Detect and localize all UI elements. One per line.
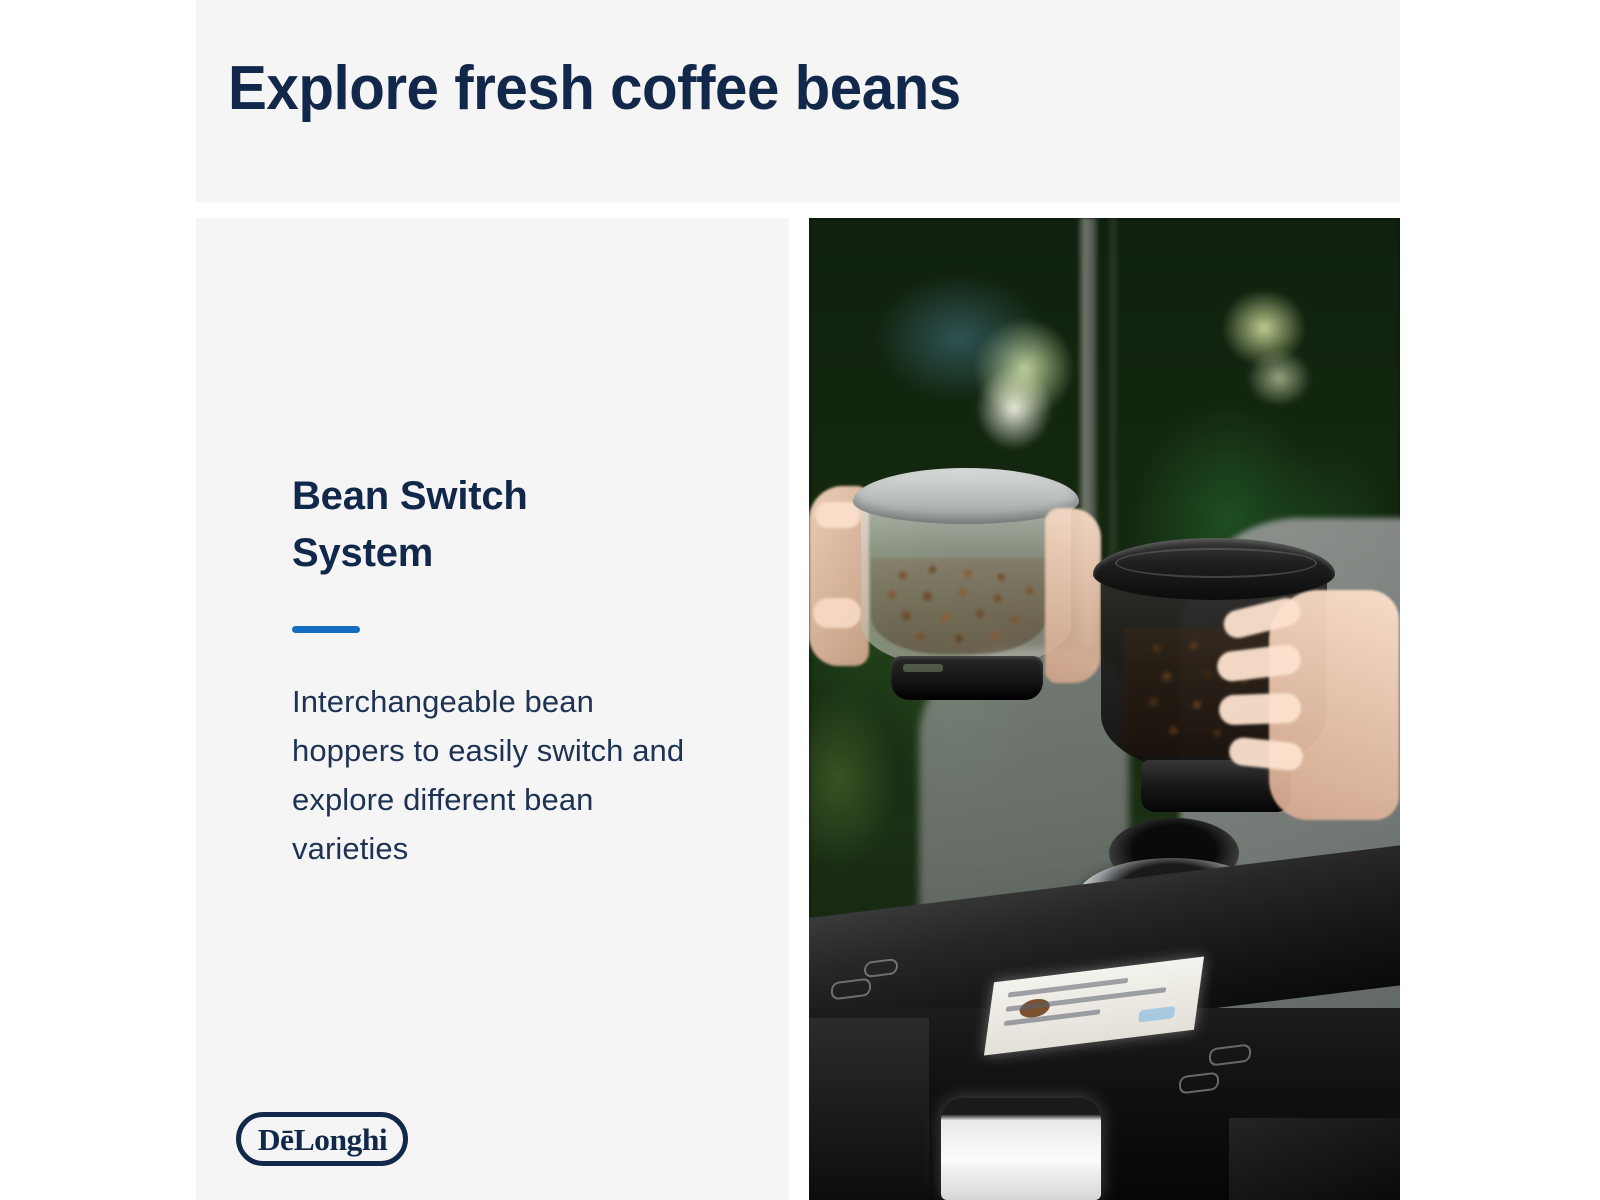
feature-block: Bean Switch System Interchangeable bean …	[292, 468, 712, 873]
bean-hopper-black	[1089, 538, 1339, 838]
accent-rule-divider	[292, 626, 360, 633]
feature-description: Interchangeable bean hoppers to easily s…	[292, 677, 692, 873]
feature-text-panel: Bean Switch System Interchangeable bean …	[196, 218, 789, 1200]
product-photo	[809, 218, 1400, 1200]
header-band: Explore fresh coffee beans	[196, 0, 1400, 202]
machine-coffee-spout	[941, 1098, 1101, 1200]
coffee-beans-medium-roast	[871, 558, 1047, 654]
lcd-text-line	[1004, 1009, 1101, 1026]
content-row: Bean Switch System Interchangeable bean …	[196, 218, 1400, 1200]
machine-side-panel	[1229, 1118, 1400, 1200]
hopper-lid-black	[1093, 538, 1335, 600]
hopper-body-translucent	[861, 500, 1071, 668]
finger	[1219, 693, 1302, 726]
feature-heading: Bean Switch System	[292, 468, 622, 582]
delonghi-logo-text: DēLonghi	[257, 1124, 386, 1155]
window-frame-secondary	[1109, 218, 1117, 578]
hopper-collar-translucent	[891, 656, 1043, 700]
machine-front-panel	[809, 1018, 929, 1200]
lcd-highlight	[1138, 1006, 1176, 1023]
hand-right	[1269, 590, 1399, 820]
page-title: Explore fresh coffee beans	[228, 52, 961, 126]
delonghi-logo: DēLonghi	[236, 1112, 408, 1166]
promo-page: Explore fresh coffee beans Bean Switch S…	[0, 0, 1600, 1200]
